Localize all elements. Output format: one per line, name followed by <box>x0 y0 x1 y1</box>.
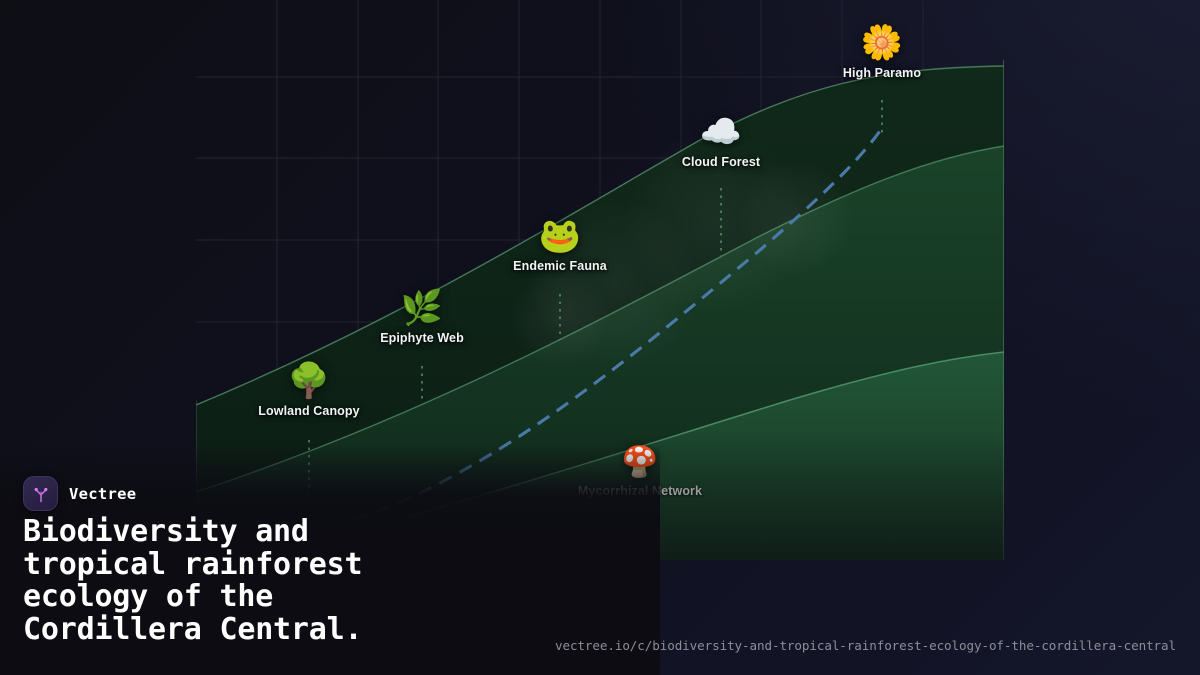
chart-node-label: Cloud Forest <box>682 155 760 169</box>
frog-icon: 🐸 <box>539 219 581 253</box>
chart-node-epiphyte-web[interactable]: 🌿 Epiphyte Web <box>312 291 532 345</box>
mushroom-icon: 🍄 <box>621 448 658 478</box>
brand-name: Vectree <box>69 485 136 503</box>
chart-node-endemic-fauna[interactable]: 🐸 Endemic Fauna <box>450 219 670 273</box>
chart-node-label: Mycorrhizal Network <box>578 484 702 498</box>
chart-node-label: Lowland Canopy <box>258 404 359 418</box>
chart-node-high-paramo[interactable]: 🌼 High Paramo <box>772 26 992 80</box>
page-url: vectree.io/c/biodiversity-and-tropical-r… <box>555 638 1176 653</box>
chart-node-label: Epiphyte Web <box>380 331 464 345</box>
herb-icon: 🌿 <box>401 291 443 325</box>
blossom-icon: 🌼 <box>861 26 903 60</box>
brand-lockup[interactable]: Vectree <box>23 476 136 511</box>
page-headline: Biodiversity and tropical rainforest eco… <box>23 516 623 646</box>
chart-node-lowland-canopy[interactable]: 🌳 Lowland Canopy <box>199 364 419 418</box>
chart-node-cloud-forest[interactable]: ☁️ Cloud Forest <box>611 115 831 169</box>
chart-node-mycorrhizal-network[interactable]: 🍄 Mycorrhizal Network <box>530 448 750 498</box>
chart-node-label: High Paramo <box>843 66 921 80</box>
vectree-logo-icon <box>23 476 58 511</box>
chart-node-label: Endemic Fauna <box>513 259 607 273</box>
tree-icon: 🌳 <box>288 364 330 398</box>
cloud-icon: ☁️ <box>700 115 742 149</box>
